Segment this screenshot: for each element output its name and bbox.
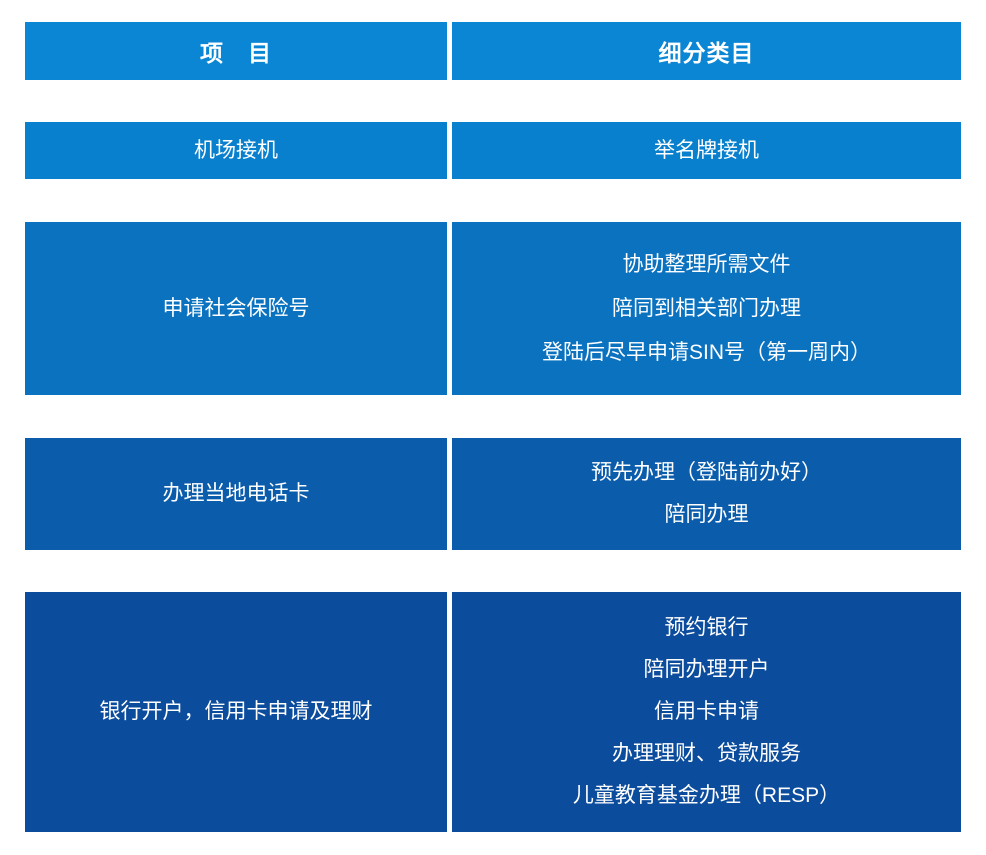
header-cell-category: 细分类目: [452, 22, 961, 80]
row-details-cell: 协助整理所需文件 陪同到相关部门办理 登陆后尽早申请SIN号（第一周内）: [452, 222, 961, 395]
header-cell-item: 项 目: [25, 22, 447, 80]
detail-line: 预先办理（登陆前办好）: [452, 452, 961, 494]
row-item-cell: 申请社会保险号: [25, 222, 447, 395]
row-item-cell: 办理当地电话卡: [25, 438, 447, 550]
row-item-cell: 银行开户，信用卡申请及理财: [25, 592, 447, 832]
row-item-label: 机场接机: [194, 136, 278, 166]
detail-line: 陪同办理: [452, 494, 961, 536]
detail-line: 协助整理所需文件: [452, 243, 961, 287]
row-details-cell: 预约银行 陪同办理开户 信用卡申请 办理理财、贷款服务 儿童教育基金办理（RES…: [452, 592, 961, 832]
table-header-row: 项 目 细分类目: [25, 22, 961, 80]
detail-line: 登陆后尽早申请SIN号（第一周内）: [452, 331, 961, 375]
row-details-lines: 举名牌接机: [452, 136, 961, 166]
detail-line: 预约银行: [452, 607, 961, 649]
detail-line: 信用卡申请: [452, 691, 961, 733]
detail-line: 儿童教育基金办理（RESP）: [452, 775, 961, 817]
detail-line: 陪同到相关部门办理: [452, 287, 961, 331]
header-label-item: 项 目: [200, 34, 272, 68]
row-item-cell: 机场接机: [25, 122, 447, 179]
detail-line: 陪同办理开户: [452, 649, 961, 691]
table-row: 银行开户，信用卡申请及理财 预约银行 陪同办理开户 信用卡申请 办理理财、贷款服…: [25, 592, 961, 832]
row-details-cell: 举名牌接机: [452, 122, 961, 179]
detail-line: 举名牌接机: [452, 136, 961, 166]
row-item-label: 申请社会保险号: [163, 287, 310, 331]
row-details-lines: 预约银行 陪同办理开户 信用卡申请 办理理财、贷款服务 儿童教育基金办理（RES…: [452, 607, 961, 817]
detail-line: 办理理财、贷款服务: [452, 733, 961, 775]
row-details-lines: 预先办理（登陆前办好） 陪同办理: [452, 452, 961, 536]
table-row: 办理当地电话卡 预先办理（登陆前办好） 陪同办理: [25, 438, 961, 550]
row-item-label: 办理当地电话卡: [163, 473, 310, 515]
services-table: 项 目 细分类目 机场接机 举名牌接机 申请社会保险号 协助整理所需文件 陪同到…: [0, 0, 986, 855]
row-details-cell: 预先办理（登陆前办好） 陪同办理: [452, 438, 961, 550]
table-row: 机场接机 举名牌接机: [25, 122, 961, 179]
row-item-label: 银行开户，信用卡申请及理财: [100, 691, 373, 733]
header-label-category: 细分类目: [659, 34, 755, 68]
row-details-lines: 协助整理所需文件 陪同到相关部门办理 登陆后尽早申请SIN号（第一周内）: [452, 243, 961, 375]
table-row: 申请社会保险号 协助整理所需文件 陪同到相关部门办理 登陆后尽早申请SIN号（第…: [25, 222, 961, 395]
